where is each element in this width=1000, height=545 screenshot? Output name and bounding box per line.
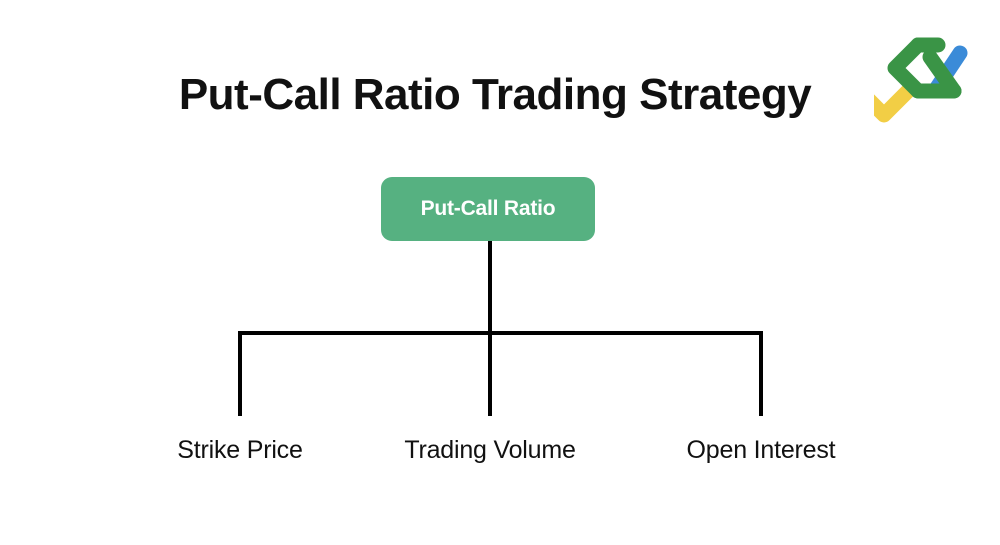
connector-drop-left bbox=[238, 331, 242, 416]
root-node-label: Put-Call Ratio bbox=[421, 197, 556, 221]
connector-horizontal-bus bbox=[238, 331, 763, 335]
leaf-node-open-interest[interactable]: Open Interest bbox=[611, 436, 911, 465]
connector-root-stem bbox=[488, 241, 492, 335]
connector-drop-right bbox=[759, 331, 763, 416]
root-node[interactable]: Put-Call Ratio bbox=[381, 177, 595, 241]
diagram-canvas: Put-Call Ratio Trading Strategy Put-Call… bbox=[0, 0, 1000, 545]
connector-drop-center bbox=[488, 331, 492, 416]
leaf-node-trading-volume[interactable]: Trading Volume bbox=[340, 436, 640, 465]
org-tree: Put-Call Ratio Strike Price Trading Volu… bbox=[0, 0, 1000, 545]
